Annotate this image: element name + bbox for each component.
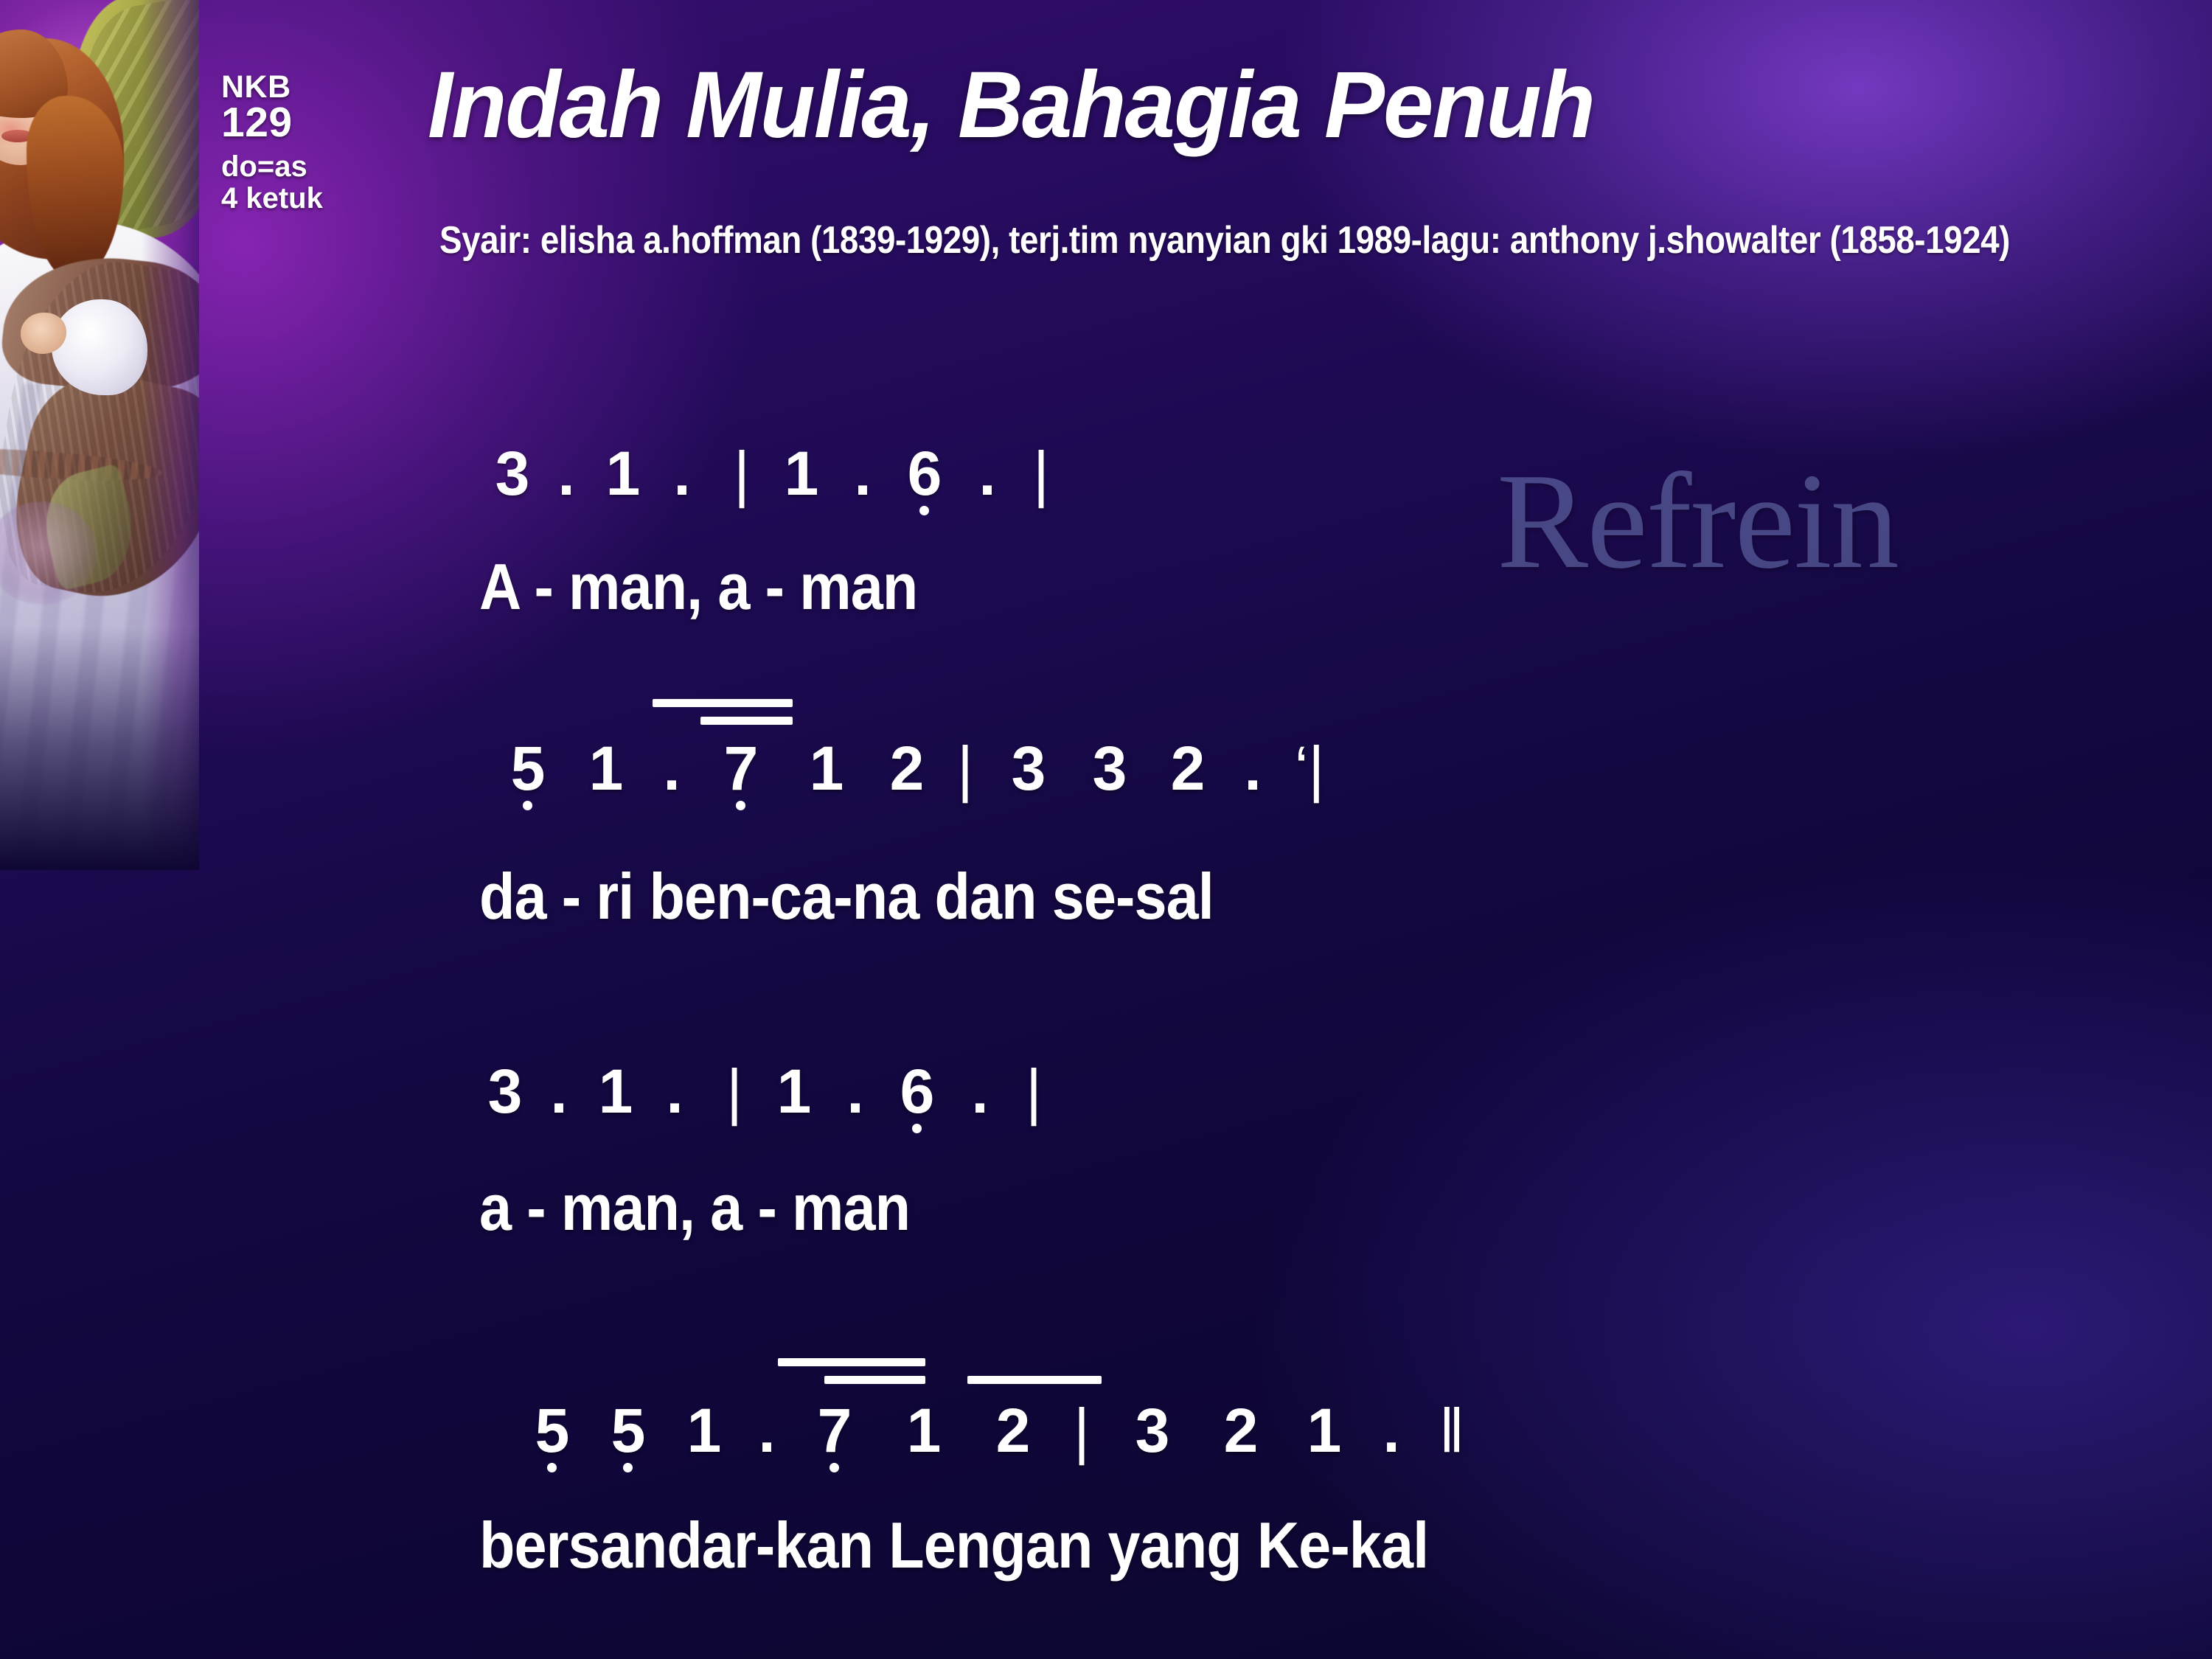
note-3: 3: [1069, 737, 1150, 799]
note-3: 3: [487, 442, 538, 504]
hymn-slide: NKB 129 do=as 4 ketuk Indah Mulia, Bahag…: [0, 0, 2212, 1659]
note-1: 1: [668, 1399, 740, 1461]
hold-dot: .: [643, 737, 700, 799]
hold-dot: .: [538, 442, 594, 504]
note-1: 1: [594, 442, 652, 504]
notation-row-4: 5 5 1 . 7 1 2 | 3 2 1 . ‖: [516, 1399, 1484, 1461]
note-6-low: 6: [886, 1060, 948, 1122]
notation-row-1: 3 . 1 . | 1 . 6 . |: [487, 442, 1063, 504]
final-barline: ‖: [1420, 1399, 1484, 1461]
note-7-low: 7: [700, 737, 782, 799]
hold-dot: .: [740, 1399, 793, 1461]
note-2: 2: [972, 1399, 1054, 1461]
beam-upper: [778, 1358, 925, 1366]
lyrics-row-4: bersandar-kan Lengan yang Ke-kal: [479, 1513, 1428, 1578]
lyrics-row-2: da - ri ben-ca-na dan se-sal: [479, 864, 1214, 929]
beam-pair: [967, 1376, 1102, 1384]
hold-dot: .: [1363, 1399, 1420, 1461]
note-3: 3: [1109, 1399, 1196, 1461]
note-2: 2: [1150, 737, 1225, 799]
note-2: 2: [872, 737, 942, 799]
note-6-low: 6: [894, 442, 956, 504]
hold-dot: .: [652, 442, 712, 504]
note-1: 1: [569, 737, 643, 799]
note-7-low: 7: [793, 1399, 876, 1461]
beam-upper: [653, 699, 793, 707]
note-3: 3: [988, 737, 1069, 799]
barline: |: [942, 737, 988, 799]
hold-dot: .: [832, 442, 894, 504]
note-1: 1: [782, 737, 872, 799]
barline: |: [1019, 442, 1063, 504]
barline: |: [705, 1060, 764, 1122]
hold-dot: .: [531, 1060, 587, 1122]
barline: |: [712, 442, 771, 504]
hold-dot: .: [948, 1060, 1012, 1122]
note-1: 1: [771, 442, 832, 504]
hold-dot: .: [1225, 737, 1280, 799]
beam-lower: [700, 717, 793, 725]
note-3: 3: [479, 1060, 531, 1122]
notation-row-2: 5 1 . 7 1 2 | 3 3 2 . ‘|: [487, 737, 1339, 799]
note-1: 1: [587, 1060, 644, 1122]
note-5-low: 5: [487, 737, 569, 799]
lyrics-row-3: a - man, a - man: [479, 1175, 910, 1240]
note-1: 1: [876, 1399, 972, 1461]
barline: |: [1054, 1399, 1109, 1461]
beam-lower: [824, 1376, 925, 1384]
note-2: 2: [1196, 1399, 1286, 1461]
music-notation-area: 3 . 1 . | 1 . 6 . | A - man, a - man 5 1…: [0, 0, 2212, 1659]
hold-dot: .: [956, 442, 1019, 504]
hold-dot: .: [644, 1060, 705, 1122]
note-5-low: 5: [588, 1399, 668, 1461]
notation-row-3: 3 . 1 . | 1 . 6 . |: [479, 1060, 1056, 1122]
note-1: 1: [1286, 1399, 1363, 1461]
note-1: 1: [764, 1060, 824, 1122]
barline-breath: ‘|: [1280, 737, 1339, 799]
note-5-low: 5: [516, 1399, 588, 1461]
barline: |: [1012, 1060, 1056, 1122]
lyrics-row-1: A - man, a - man: [479, 554, 917, 619]
hold-dot: .: [824, 1060, 886, 1122]
